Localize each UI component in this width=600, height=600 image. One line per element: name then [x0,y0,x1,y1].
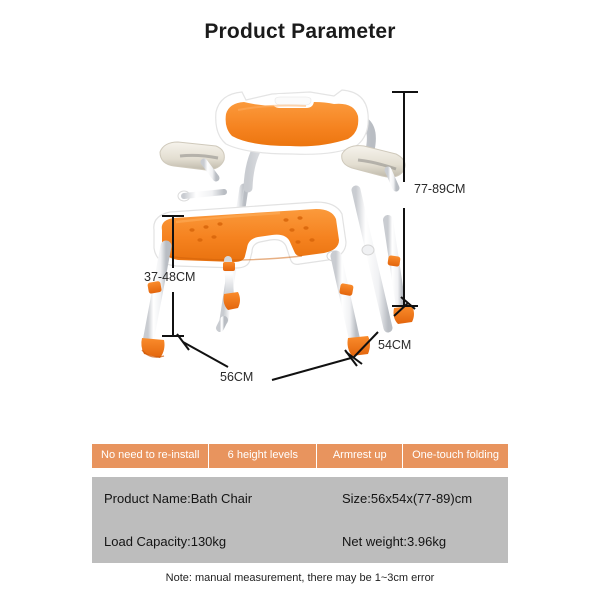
bath-chair-drawing [120,70,480,400]
spec-load-capacity: Load Capacity:130kg [104,534,226,549]
spec-size: Size:56x54x(77-89)cm [342,491,472,506]
spec-net-weight: Net weight:3.96kg [342,534,446,549]
specification-panel: Product Name:Bath Chair Size:56x54x(77-8… [92,477,508,563]
rear-left-leg-lower [220,320,224,328]
front-left-leg [141,246,166,358]
feature-tag-height-levels: 6 height levels [209,444,316,468]
product-parameter-page: Product Parameter [0,0,600,600]
spec-row-2: Load Capacity:130kg Net weight:3.96kg [92,520,508,563]
product-illustration [120,70,480,400]
feature-tag-armrest-up: Armrest up [317,444,402,468]
rear-right-leg [387,220,414,324]
seat [154,202,346,268]
fold-brace [184,192,224,196]
feature-tag-no-reinstall: No need to re-install [92,444,208,468]
backrest-pad [216,90,369,154]
feature-tag-row: No need to re-install 6 height levels Ar… [92,444,508,468]
page-title: Product Parameter [0,20,600,44]
spec-product-name: Product Name:Bath Chair [104,491,252,506]
armrest-right [342,146,405,177]
armrest-left [160,142,224,170]
measurement-note: Note: manual measurement, there may be 1… [0,572,600,584]
front-right-leg [336,256,370,356]
spec-row-1: Product Name:Bath Chair Size:56x54x(77-8… [92,477,508,520]
feature-tag-one-touch-folding: One-touch folding [403,444,508,468]
